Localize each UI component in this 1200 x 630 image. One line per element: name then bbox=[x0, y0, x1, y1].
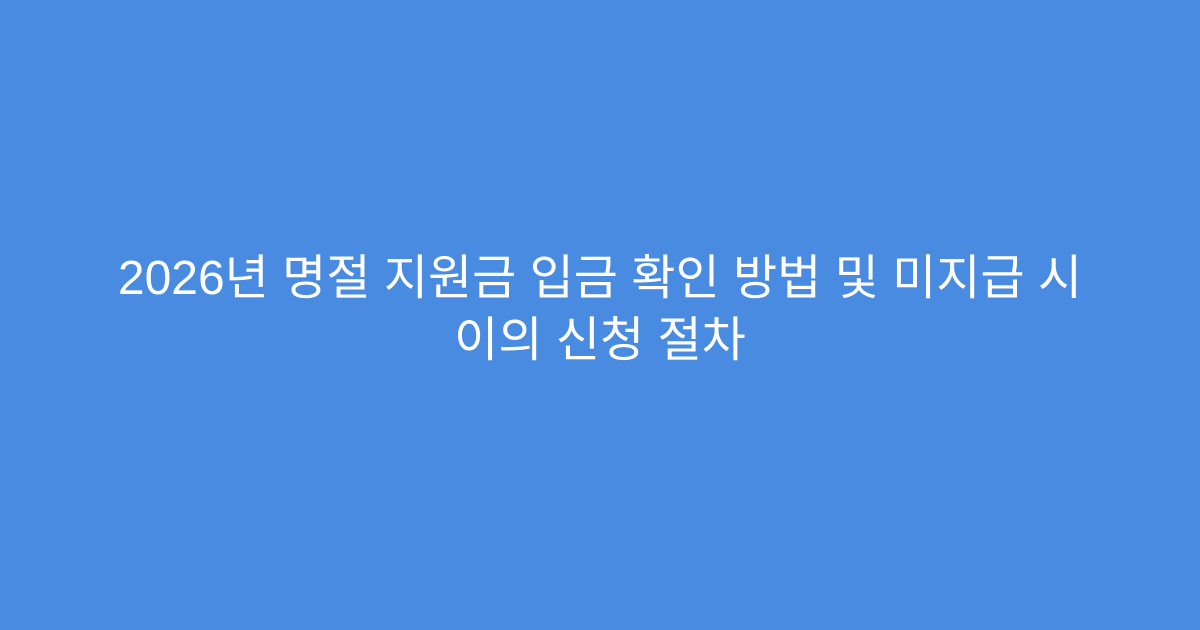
thumbnail-card: 2026년 명절 지원금 입금 확인 방법 및 미지급 시 이의 신청 절차 bbox=[0, 0, 1200, 630]
page-title: 2026년 명절 지원금 입금 확인 방법 및 미지급 시 이의 신청 절차 bbox=[80, 248, 1120, 372]
headline-block: 2026년 명절 지원금 입금 확인 방법 및 미지급 시 이의 신청 절차 bbox=[70, 248, 1130, 372]
